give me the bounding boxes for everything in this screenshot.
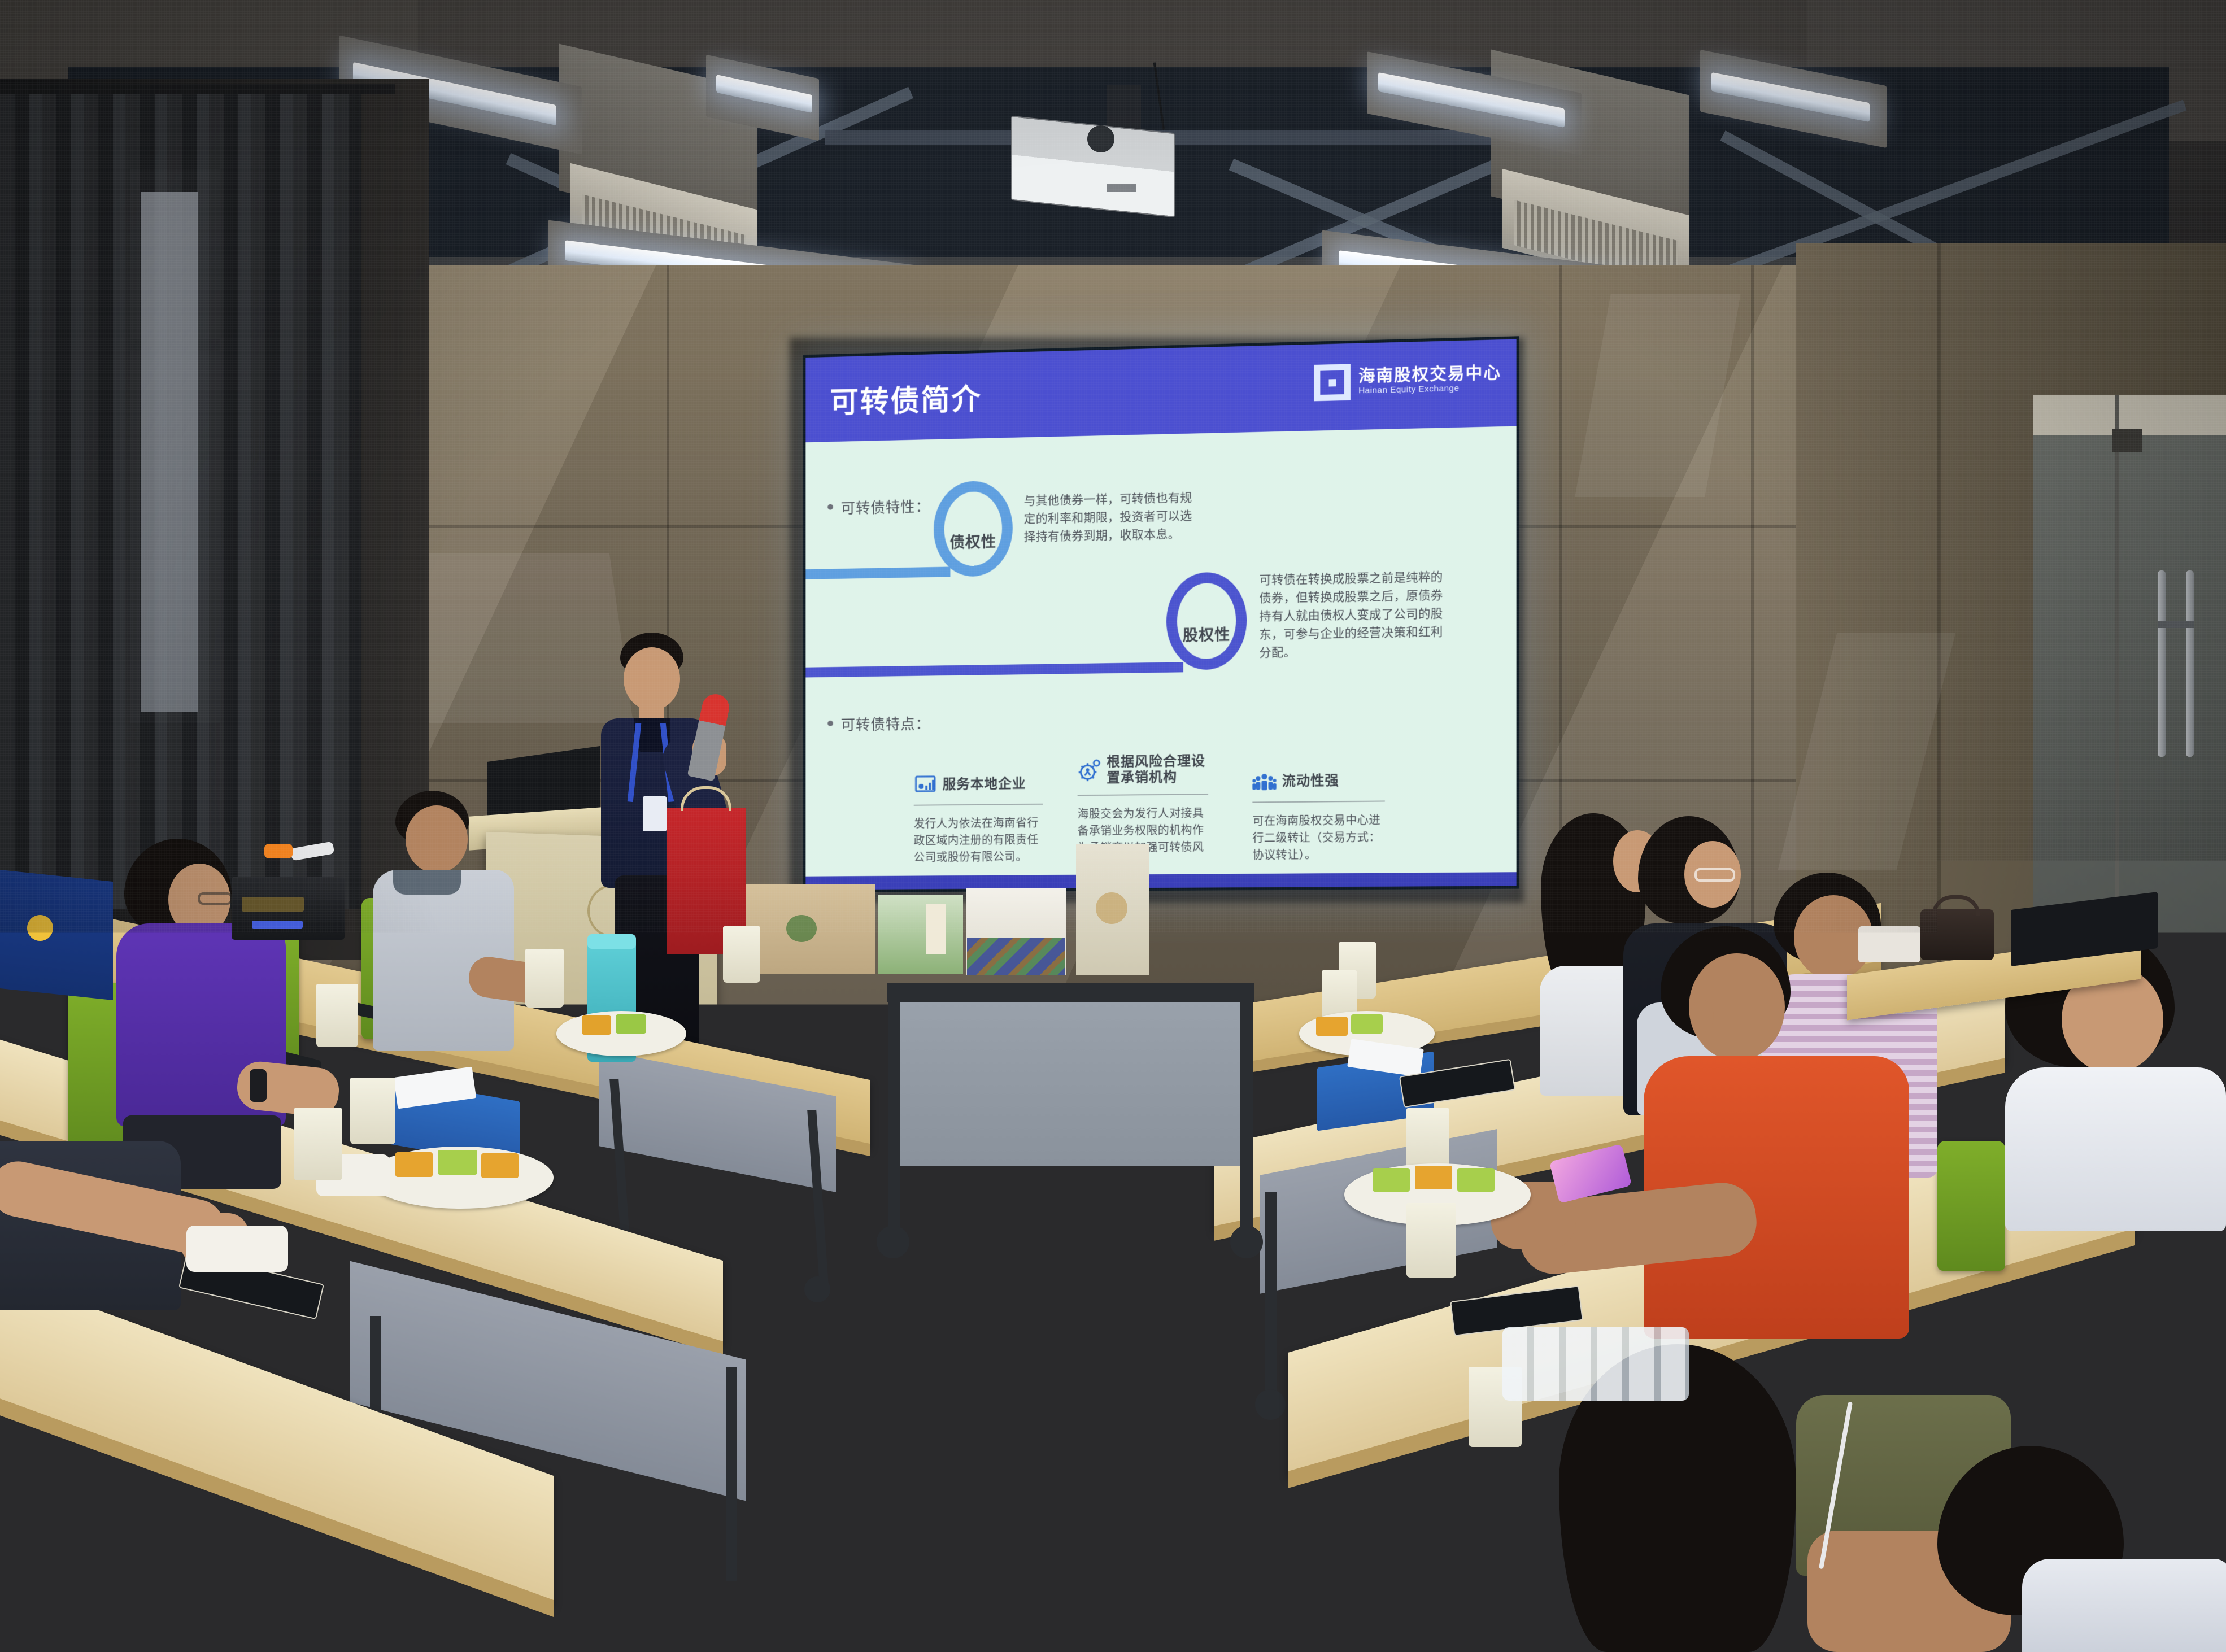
feature-1-divider xyxy=(914,804,1043,806)
handbag xyxy=(1920,909,1994,960)
gift-box-pattern xyxy=(967,938,1065,975)
attendee-glasses-icon xyxy=(1694,868,1735,882)
door-pull-handle[interactable] xyxy=(2158,570,2166,757)
door-handle-bracket xyxy=(2158,621,2194,628)
table-caster xyxy=(1230,1226,1263,1258)
feature-3-head: 流动性强 xyxy=(1252,769,1385,794)
ring-equity-nature: 股权性 xyxy=(1166,572,1247,670)
carton-logo-icon xyxy=(786,915,817,942)
curtain-rod xyxy=(0,84,395,94)
fruit-slice xyxy=(1351,1014,1383,1034)
ring-tail-upper xyxy=(805,567,950,579)
gift-box-label xyxy=(926,904,946,954)
feature-3-body: 可在海南股权交易中心进行二级转让（交易方式：协议转让）。 xyxy=(1252,812,1385,864)
attendee-head xyxy=(406,805,468,873)
projector-mount xyxy=(1107,85,1141,130)
fruit-slice xyxy=(395,1152,433,1177)
floor-debris xyxy=(1099,1313,1138,1328)
ring-tail-lower xyxy=(805,662,1183,677)
feature-1-title: 服务本地企业 xyxy=(943,776,1026,793)
napkin xyxy=(186,1226,288,1272)
attendee-white-shirt-corner xyxy=(1937,1446,2226,1652)
slide-surface: 可转债简介 海南股权交易中心 Hainan Equity Exchange 可转… xyxy=(805,339,1516,890)
presentation-chart-icon xyxy=(914,773,937,797)
projector-label xyxy=(1107,184,1136,192)
feature-3-divider xyxy=(1252,800,1385,803)
bullet-dot-icon xyxy=(827,721,833,726)
debt-nature-paragraph: 与其他债券一样，可转债也有规定的利率和期限，投资者可以选择持有债券到期，收取本息… xyxy=(1024,489,1198,546)
table-leg xyxy=(1240,988,1253,1237)
bullet-features-label: 可转债特点： xyxy=(841,713,930,734)
feature-1-body: 发行人为依法在海南省行政区域内注册的有限责任公司或股份有限公司。 xyxy=(914,815,1043,866)
paper-cup[interactable] xyxy=(1406,1203,1456,1278)
fruit-slice xyxy=(1457,1168,1495,1192)
presenter-badge xyxy=(643,796,667,831)
ring-debt-nature: 债权性 xyxy=(934,480,1013,577)
attendee-watch xyxy=(250,1069,267,1102)
paper-cup[interactable] xyxy=(723,926,760,983)
fruit-slice xyxy=(582,1015,611,1035)
feature-1-head: 服务本地企业 xyxy=(914,772,1043,797)
fruit-slice xyxy=(438,1150,477,1175)
folded-table-top-rail xyxy=(887,983,1254,1002)
floor-tile-line xyxy=(1164,1096,1165,1649)
bullet-characteristics-label: 可转债特性： xyxy=(841,495,930,518)
speaker-antenna-tip xyxy=(264,844,293,858)
paper-napkin xyxy=(1858,926,1920,962)
plastic-cup-stack xyxy=(1502,1327,1689,1401)
feature-2-title: 根据风险合理设置承销机构 xyxy=(1107,753,1208,786)
floor-debris xyxy=(977,1322,1090,1339)
feature-2-divider xyxy=(1078,794,1208,796)
ring-equity-nature-label: 股权性 xyxy=(1183,622,1230,644)
feature-2-head: 根据风险合理设置承销机构 xyxy=(1078,753,1208,787)
projector-lens xyxy=(1087,125,1114,152)
exchange-logo: 海南股权交易中心 Hainan Equity Exchange xyxy=(1314,360,1501,402)
attendee-collar xyxy=(393,870,461,895)
equity-nature-paragraph: 可转债在转换成股票之前是纯粹的债券，但转换成股票之后，原债券持有人就由债权人变成… xyxy=(1259,568,1448,662)
table-caster xyxy=(877,1226,909,1258)
fruit-slice xyxy=(481,1153,519,1178)
thermos-cap xyxy=(587,934,636,949)
floor-tile-line xyxy=(678,1276,1469,1278)
tissue-box-floral-icon xyxy=(1446,1548,1514,1598)
exchange-logo-mark-icon xyxy=(1314,364,1351,401)
feature-card-3: 流动性强 可在海南股权交易中心进行二级转让（交易方式：协议转让）。 xyxy=(1252,769,1385,864)
table-leg xyxy=(1265,1192,1277,1401)
exchange-logo-cn: 海南股权交易中心 xyxy=(1358,365,1501,386)
floor-tile-line xyxy=(921,1096,922,1649)
conference-room-photo: 可转债简介 海南股权交易中心 Hainan Equity Exchange 可转… xyxy=(0,0,2226,1652)
presenter-head xyxy=(624,647,680,711)
gift-box-emblem-icon xyxy=(1096,892,1127,924)
attendee-gray-polo xyxy=(361,791,548,1062)
slide-footer-band xyxy=(805,872,1516,890)
green-landscape-gift-box xyxy=(878,895,963,974)
paper-cup[interactable] xyxy=(294,1108,342,1180)
table-leg xyxy=(888,988,900,1237)
ring-debt-nature-label: 债权性 xyxy=(949,529,996,552)
attendee-torso xyxy=(2022,1559,2226,1652)
bullet-characteristics: 可转债特性： xyxy=(827,495,930,518)
feature-card-1: 服务本地企业 发行人为依法在海南省行政区域内注册的有限责任公司或股份有限公司。 xyxy=(914,772,1043,866)
blue-carton-box xyxy=(0,869,113,1000)
door-pull-handle[interactable] xyxy=(2186,570,2194,757)
paper-cup[interactable] xyxy=(525,949,564,1008)
fruit-slice xyxy=(616,1014,646,1034)
speaker-led xyxy=(252,921,303,929)
table-caster xyxy=(1255,1389,1286,1420)
group-people-icon xyxy=(1252,770,1276,794)
speaker-display xyxy=(242,897,304,912)
attendee-glasses-icon xyxy=(198,892,233,905)
attendee-torso xyxy=(2005,1067,2226,1231)
projection-screen: 可转债简介 海南股权交易中心 Hainan Equity Exchange 可转… xyxy=(803,336,1519,892)
fruit-slice xyxy=(1373,1168,1410,1192)
slide-title: 可转债简介 xyxy=(830,376,982,421)
bullet-dot-icon xyxy=(827,504,833,510)
bullet-features: 可转债特点： xyxy=(827,713,930,735)
fruit-slice xyxy=(1415,1166,1452,1189)
fruit-slice xyxy=(1316,1017,1348,1036)
paper-cup[interactable] xyxy=(350,1078,395,1144)
table-leg xyxy=(726,1367,737,1581)
folded-table-panel xyxy=(892,991,1248,1166)
gear-person-icon xyxy=(1078,759,1101,782)
blue-carton-logo-icon xyxy=(27,915,53,941)
feature-3-title: 流动性强 xyxy=(1282,773,1339,790)
window-gap xyxy=(141,192,198,712)
paper-cup[interactable] xyxy=(316,984,358,1047)
table-caster xyxy=(804,1276,830,1302)
attendee-ear xyxy=(1690,1000,1714,1032)
door-hinge-plate xyxy=(2112,429,2142,452)
